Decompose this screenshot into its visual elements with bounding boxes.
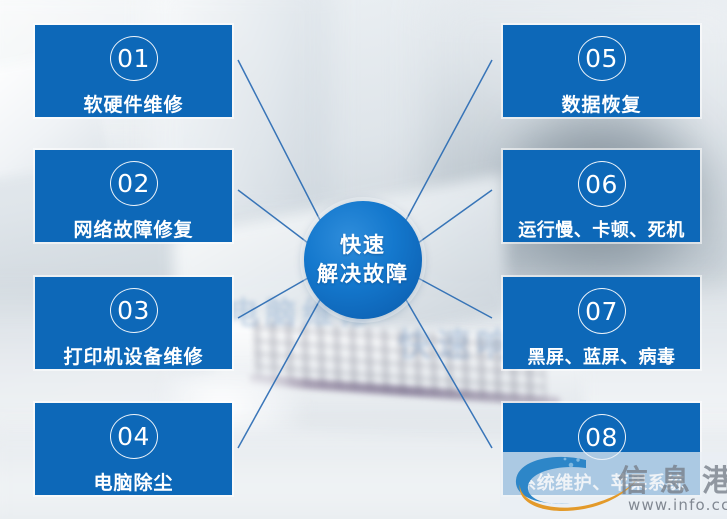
hub-line-2: 解决故障 xyxy=(317,262,409,288)
connector-line-06 xyxy=(418,190,492,243)
service-card-04[interactable]: 04 电脑除尘 xyxy=(35,403,232,495)
connector-line-03 xyxy=(238,278,308,318)
hub-line-1: 快速 xyxy=(340,233,386,259)
connector-line-04 xyxy=(238,298,321,448)
card-label-02: 网络故障修复 xyxy=(73,215,193,242)
card-label-07: 黑屏、蓝屏、病毒 xyxy=(528,343,676,369)
card-label-06: 运行慢、卡顿、死机 xyxy=(518,216,685,242)
watermark-brand-text: 信息港 xyxy=(618,456,727,500)
center-hub[interactable]: 快速 解决故障 xyxy=(304,201,422,319)
card-number-badge-06: 06 xyxy=(578,161,626,207)
site-watermark: 信息港 www.info.cc xyxy=(500,452,727,519)
service-card-07[interactable]: 07 黑屏、蓝屏、病毒 xyxy=(503,277,700,369)
card-label-03: 打印机设备维修 xyxy=(63,342,203,369)
service-card-03[interactable]: 03 打印机设备维修 xyxy=(35,277,232,369)
card-label-01: 软硬件维修 xyxy=(83,90,183,117)
card-number-badge-02: 02 xyxy=(110,161,158,206)
card-number-badge-07: 07 xyxy=(578,288,626,334)
connector-line-07 xyxy=(418,278,492,318)
connector-line-01 xyxy=(238,60,321,222)
connector-line-02 xyxy=(238,190,308,243)
card-number-badge-03: 03 xyxy=(110,288,158,333)
connector-line-05 xyxy=(405,60,492,222)
service-card-01[interactable]: 01 软硬件维修 xyxy=(35,25,232,117)
card-number-badge-01: 01 xyxy=(110,36,158,81)
card-number-badge-04: 04 xyxy=(110,414,158,459)
connector-line-08 xyxy=(405,298,492,448)
service-card-05[interactable]: 05 数据恢复 xyxy=(503,25,700,117)
card-label-05: 数据恢复 xyxy=(561,90,641,117)
card-label-04: 电脑除尘 xyxy=(93,468,173,495)
service-card-02[interactable]: 02 网络故障修复 xyxy=(35,150,232,242)
infographic-canvas: 电脑维修 快速响应 01 软硬件维修 02 网络故障修复 03 打印机设备维修 … xyxy=(0,0,727,519)
watermark-url-text: www.info.cc xyxy=(628,496,727,514)
service-card-06[interactable]: 06 运行慢、卡顿、死机 xyxy=(503,150,700,242)
card-number-badge-05: 05 xyxy=(578,36,626,81)
